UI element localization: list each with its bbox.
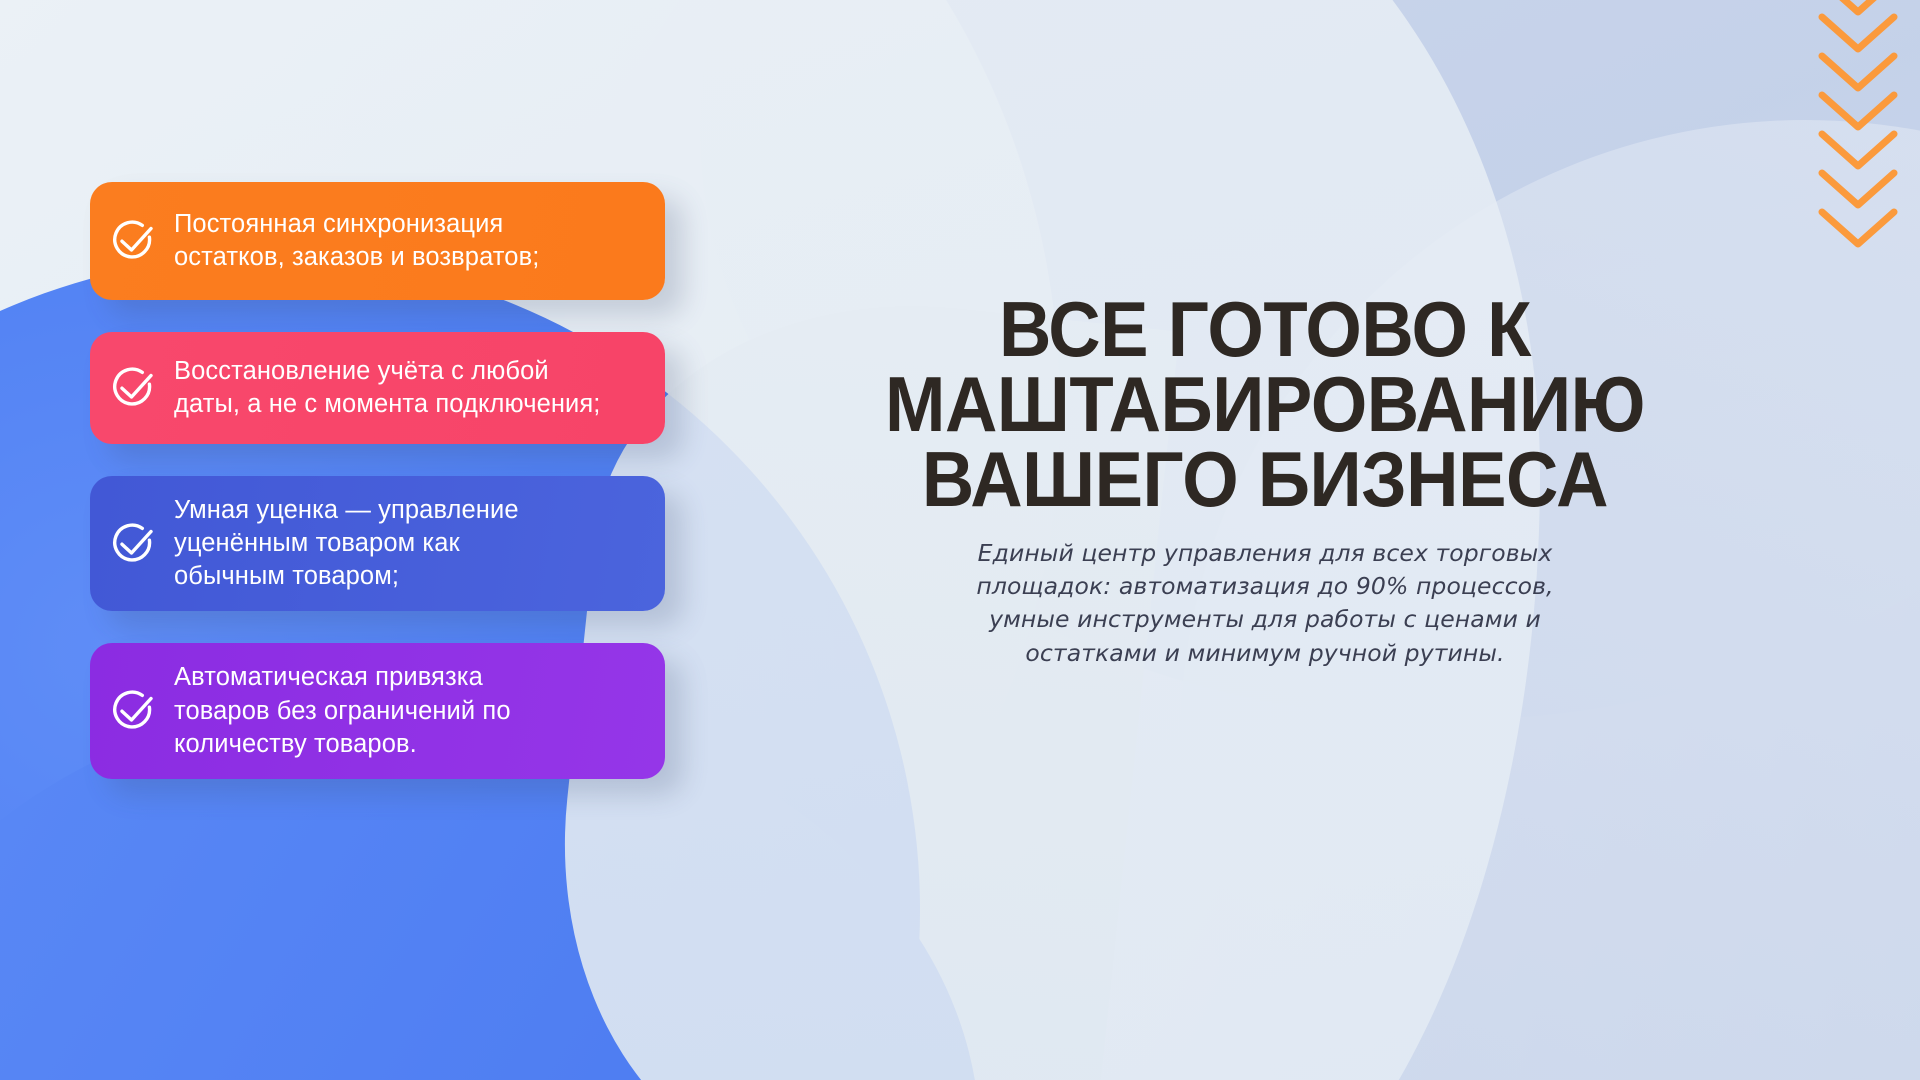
feature-card-text: Постоянная синхронизация остатков, заказ… [174,208,539,274]
chevron-decoration-group [1800,0,1920,264]
check-circle-icon [110,520,158,568]
feature-card-auto-link[interactable]: Автоматическая привязка товаров без огра… [90,643,665,778]
check-circle-icon [110,217,158,265]
check-circle-icon [110,687,158,735]
feature-card-text: Восстановление учёта с любой даты, а не … [174,355,600,421]
feature-card-text: Автоматическая привязка товаров без огра… [174,661,511,760]
feature-card-restore[interactable]: Восстановление учёта с любой даты, а не … [90,332,665,444]
feature-card-list: Постоянная синхронизация остатков, заказ… [90,182,665,811]
headline-block: ВСЕ ГОТОВО К МАШТАБИРОВАНИЮ ВАШЕГО БИЗНЕ… [690,292,1840,670]
check-circle-icon [110,364,158,412]
subtitle-text: Единый центр управления для всех торговы… [935,537,1595,670]
feature-card-markdown[interactable]: Умная уценка — управление уценённым това… [90,476,665,611]
feature-card-text: Умная уценка — управление уценённым това… [174,494,519,593]
page-title: ВСЕ ГОТОВО К МАШТАБИРОВАНИЮ ВАШЕГО БИЗНЕ… [730,292,1800,517]
feature-card-sync[interactable]: Постоянная синхронизация остатков, заказ… [90,182,665,300]
slide-root: Постоянная синхронизация остатков, заказ… [0,0,1920,1080]
